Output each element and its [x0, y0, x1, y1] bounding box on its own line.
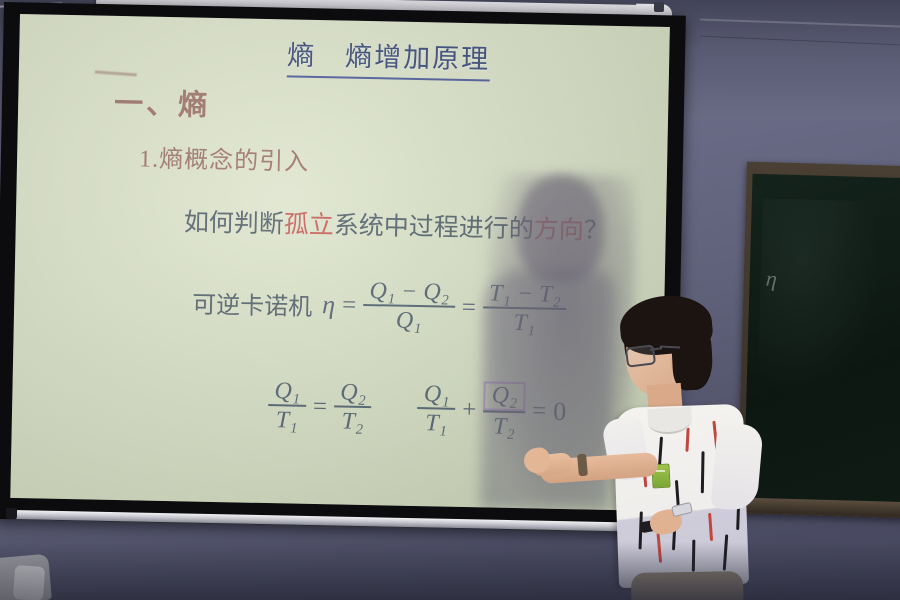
plus-sign: +	[462, 396, 477, 424]
slide-title: 熵 熵增加原理	[287, 33, 491, 81]
fraction-q2-over-t2: Q₂ T₂	[333, 380, 372, 435]
fraction-numerator: Q₁ − Q₂	[363, 279, 455, 306]
presenter-shadow-head	[517, 174, 605, 284]
foreground-object-secondary	[13, 565, 45, 600]
fraction-numerator: Q₂	[334, 380, 372, 406]
equals-sign: =	[313, 393, 328, 421]
screen-weight-bar-cap	[6, 508, 17, 519]
fraction-numerator: Q₁	[418, 382, 456, 408]
fraction-denominator: T₁	[419, 410, 453, 437]
slide-heading-level2: 1.熵概念的引入	[139, 138, 310, 176]
right-sleeve	[710, 422, 763, 512]
equals-sign-2: =	[461, 294, 476, 322]
fraction-q1-minus-q2-over-q1: Q₁ − Q₂ Q₁	[363, 279, 456, 335]
hair-side	[670, 319, 714, 391]
eta-symbol: η	[322, 290, 336, 320]
equals-sign-1: =	[342, 291, 357, 319]
equation-q1t1-equals-q2t2: Q₁ T₁ = Q₂ T₂	[268, 379, 373, 435]
slide-heading-level1: 一、熵	[114, 80, 211, 124]
fraction-denominator: Q₁	[390, 307, 428, 334]
lecture-photo-scene: η 熵 熵增加原理 一、熵 1.熵概念的引入 如何判断孤立系统中过程进行的方向？…	[0, 0, 900, 600]
lower-wall-shadow	[0, 542, 900, 600]
fraction-q1-over-t1: Q₁ T₁	[417, 382, 456, 437]
fraction-numerator: Q₁	[268, 379, 306, 405]
question-part-1: 如何判断	[184, 209, 285, 238]
wrist-band	[577, 454, 588, 477]
question-highlight-isolated: 孤立	[284, 211, 335, 239]
carnot-label: 可逆卡诺机	[192, 285, 313, 322]
projection-screen: 熵 熵增加原理 一、熵 1.熵概念的引入 如何判断孤立系统中过程进行的方向？ 可…	[10, 14, 670, 511]
fraction-denominator: T₁	[270, 407, 304, 434]
fraction-denominator: T₂	[335, 408, 369, 435]
fraction-q1-over-t1: Q₁ T₁	[268, 379, 307, 434]
roller-mounting-bracket	[654, 2, 664, 12]
chalk-mark-eta: η	[765, 266, 778, 293]
